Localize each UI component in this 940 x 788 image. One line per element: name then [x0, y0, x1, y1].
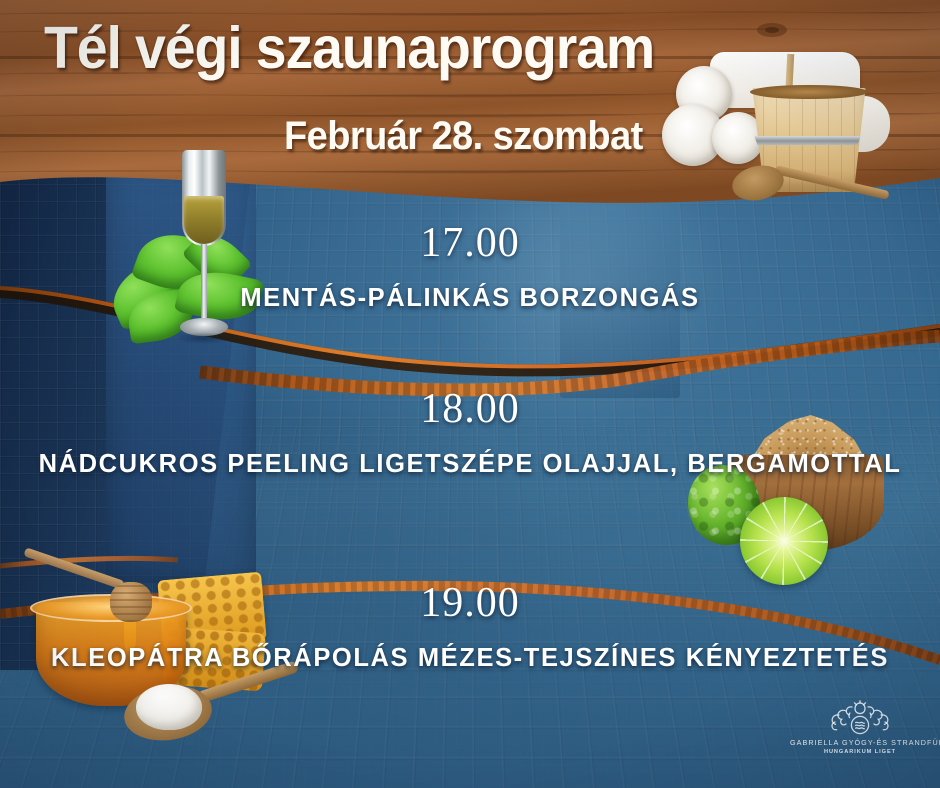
logo-subtitle: HUNGARIKUM LIGET	[790, 749, 930, 755]
logo-name: GABRIELLA GYÓGY-ÉS STRANDFÜRDŐ	[790, 738, 930, 747]
poster-title: Tél végi szaunaprogram	[44, 18, 654, 80]
program-name: NÁDCUKROS PEELING LIGETSZÉPE OLAJJAL, BE…	[0, 448, 940, 482]
sauna-bucket-band	[752, 136, 863, 145]
program-time: 17.00	[0, 222, 940, 264]
sauna-bucket-towels-icon	[670, 38, 930, 208]
sauna-program-poster: Tél végi szaunaprogram Február 28. szomb…	[0, 0, 940, 788]
poster-date: Február 28. szombat	[284, 116, 643, 156]
program-name: KLEOPÁTRA BŐRÁPOLÁS MÉZES-TEJSZÍNES KÉNY…	[0, 642, 940, 676]
program-entry: 17.00 MENTÁS-PÁLINKÁS BORZONGÁS	[0, 222, 940, 316]
hungarian-folk-tulip-ornament-icon	[812, 700, 908, 736]
lime-segments	[740, 497, 828, 585]
program-time: 19.00	[0, 582, 940, 624]
program-entry: 19.00 KLEOPÁTRA BŐRÁPOLÁS MÉZES-TEJSZÍNE…	[0, 582, 940, 676]
cream-spoon-icon	[136, 684, 202, 730]
glass-shadow	[176, 332, 232, 344]
program-time: 18.00	[0, 388, 940, 430]
sauna-bucket-rim	[750, 85, 868, 99]
program-name: MENTÁS-PÁLINKÁS BORZONGÁS	[0, 282, 940, 316]
program-entry: 18.00 NÁDCUKROS PEELING LIGETSZÉPE OLAJJ…	[0, 388, 940, 482]
spa-logo: GABRIELLA GYÓGY-ÉS STRANDFÜRDŐ HUNGARIKU…	[790, 700, 930, 762]
